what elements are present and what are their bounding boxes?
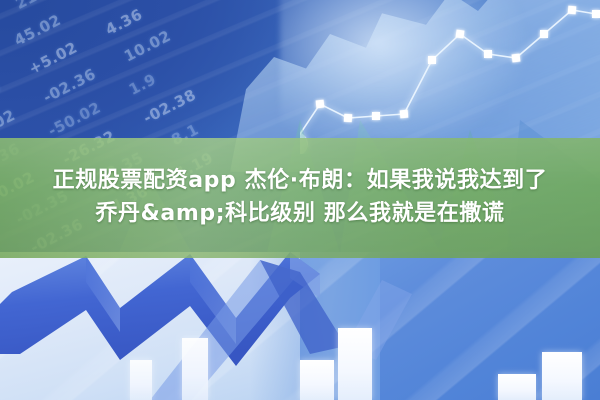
- caption-block: 正规股票配资app 杰伦·布朗：如果我说我达到了 乔丹&amp;科比级别 那么我…: [0, 138, 600, 258]
- ticker-number: 45.02: [11, 11, 64, 50]
- bar-item: [542, 352, 582, 400]
- bar-chart-bars-left: [130, 330, 270, 400]
- ticker-number: 10.02: [121, 27, 174, 66]
- ticker-number: +5.02: [26, 38, 81, 78]
- bar-item: [338, 328, 372, 400]
- banner-image: -03.19 -09.06 -02.35 21.15 2.06 -02.38 -…: [0, 0, 600, 400]
- bar-item: [300, 360, 334, 400]
- caption-line-1: 正规股票配资app 杰伦·布朗：如果我说我达到了: [53, 167, 548, 196]
- bar-item: [498, 374, 536, 400]
- caption-line-2: 乔丹&amp;科比级别 那么我就是在撒谎: [95, 200, 504, 229]
- bar-item: [182, 338, 208, 400]
- bar-chart-bars: [290, 300, 600, 400]
- bar-item: [130, 360, 152, 400]
- ticker-number: 1.9: [126, 70, 159, 99]
- ticker-number: 4.36: [102, 5, 145, 39]
